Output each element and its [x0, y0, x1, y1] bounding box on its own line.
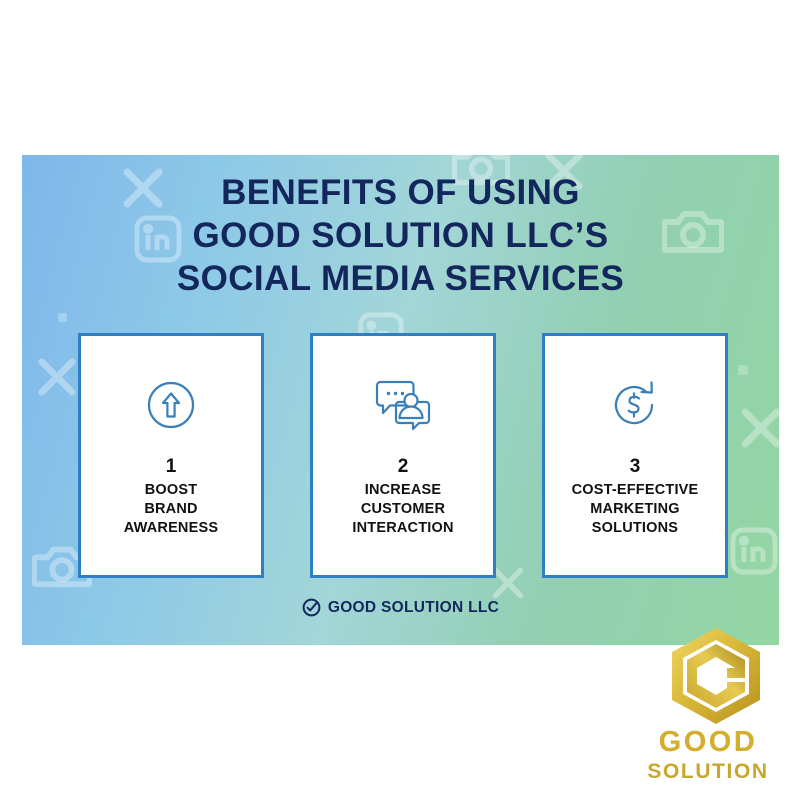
chat-bubbles-person-icon	[372, 374, 434, 436]
hexagon-g-logo-icon	[664, 626, 768, 726]
benefit-card-3: 3 COST-EFFECTIVE MARKETING SOLUTIONS	[542, 333, 728, 578]
logo-line-1: GOOD	[616, 726, 800, 759]
title-line-1: BENEFITS OF USING	[22, 171, 779, 214]
benefit-card-2: 2 INCREASE CUSTOMER INTERACTION	[310, 333, 496, 578]
benefit-cards: 1 BOOST BRAND AWARENESS	[78, 333, 728, 578]
benefit-label: COST-EFFECTIVE MARKETING SOLUTIONS	[572, 481, 699, 538]
logo-line-2: SOLUTION	[616, 759, 800, 785]
benefit-label-line: COST-EFFECTIVE	[572, 481, 699, 500]
benefit-number: 2	[398, 456, 409, 478]
square-dot-icon	[58, 313, 67, 322]
brand-name: GOOD SOLUTION LLC	[328, 599, 499, 617]
poster-canvas: BENEFITS OF USING GOOD SOLUTION LLC’S SO…	[0, 0, 800, 800]
benefit-label-line: CUSTOMER	[352, 500, 453, 519]
banner: BENEFITS OF USING GOOD SOLUTION LLC’S SO…	[22, 155, 779, 645]
arrow-up-circle-icon	[144, 374, 198, 436]
x-icon	[35, 355, 79, 399]
benefit-label-line: MARKETING	[572, 500, 699, 519]
company-logo: GOOD SOLUTION	[616, 626, 800, 800]
benefit-label-line: AWARENESS	[124, 519, 218, 538]
linkedin-icon	[728, 525, 779, 577]
title-line-2: GOOD SOLUTION LLC’S	[22, 214, 779, 257]
benefit-label-line: BOOST	[124, 481, 218, 500]
benefit-label: BOOST BRAND AWARENESS	[124, 481, 218, 538]
page-title: BENEFITS OF USING GOOD SOLUTION LLC’S SO…	[22, 171, 779, 300]
benefit-label-line: INCREASE	[352, 481, 453, 500]
benefit-label-line: SOLUTIONS	[572, 519, 699, 538]
dollar-refresh-icon	[606, 374, 664, 436]
benefit-label: INCREASE CUSTOMER INTERACTION	[352, 481, 453, 538]
x-icon	[738, 405, 779, 451]
benefit-number: 1	[166, 456, 177, 478]
benefit-card-1: 1 BOOST BRAND AWARENESS	[78, 333, 264, 578]
title-line-3: SOCIAL MEDIA SERVICES	[22, 257, 779, 300]
check-circle-icon	[302, 598, 321, 617]
benefit-number: 3	[630, 456, 641, 478]
benefit-label-line: INTERACTION	[352, 519, 453, 538]
brand-footer: GOOD SOLUTION LLC	[22, 598, 779, 617]
logo-wordmark: GOOD SOLUTION	[616, 726, 800, 785]
benefit-label-line: BRAND	[124, 500, 218, 519]
square-dot-icon	[738, 365, 748, 375]
